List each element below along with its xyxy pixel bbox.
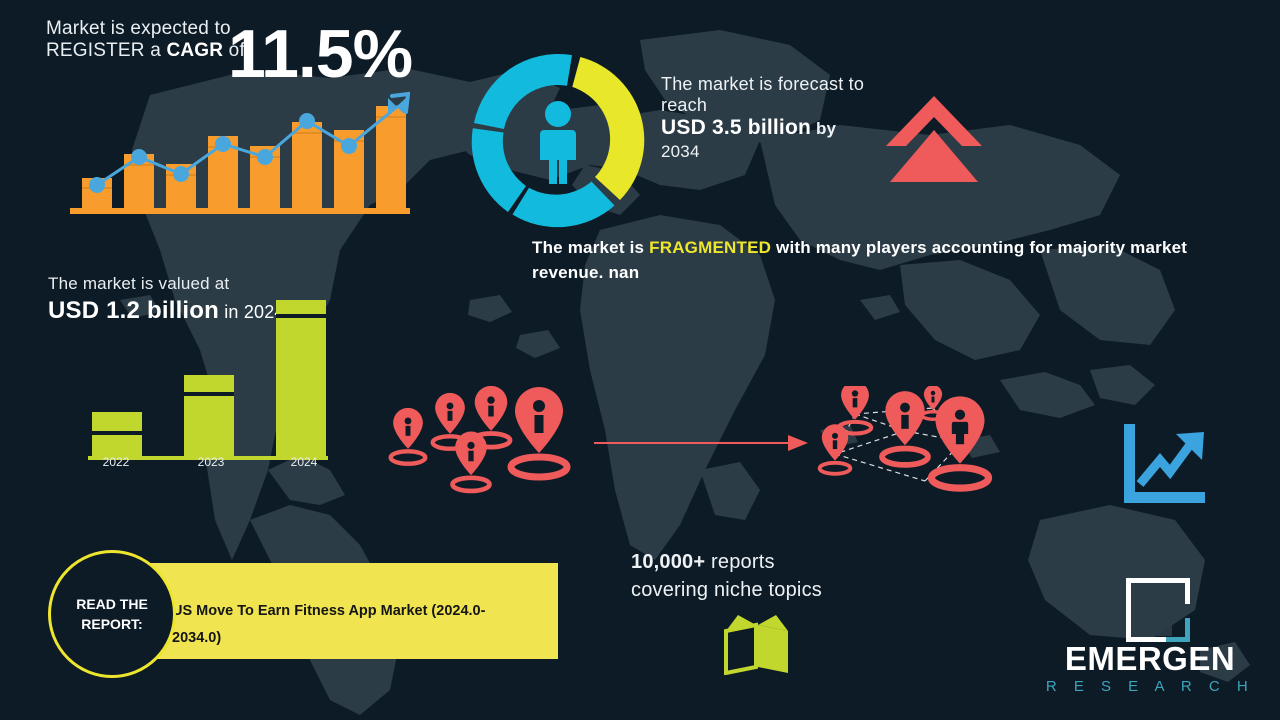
- valuation-label: The market is valued at: [48, 274, 229, 294]
- forecast-by: by: [811, 119, 836, 138]
- growth-chart-icon: [1118, 422, 1210, 508]
- location-pin-icon: [931, 396, 988, 488]
- donut-segment-a: [572, 57, 644, 200]
- location-pin-icon: [820, 424, 851, 474]
- green-bar-label-2022: 2022: [86, 455, 146, 469]
- scattered-location-pins: [383, 386, 593, 496]
- location-pin-icon: [839, 386, 871, 433]
- location-pin-icon: [391, 408, 426, 464]
- up-arrows-icon: [884, 94, 984, 184]
- chart-baseline: [70, 208, 410, 214]
- forecast-line1: The market is forecast to: [661, 74, 864, 94]
- person-icon: [540, 101, 576, 184]
- green-bar-label-2023: 2023: [181, 455, 241, 469]
- growth-bar-line-chart: [70, 88, 410, 218]
- location-pin-icon: [882, 391, 928, 465]
- reports-line1-rest: reports: [705, 551, 774, 573]
- reports-line2: covering niche topics: [631, 579, 822, 601]
- read-the-report-button[interactable]: READ THE REPORT:: [48, 550, 176, 678]
- infographic-canvas: Market is expected to REGISTER a CAGR of…: [0, 0, 1280, 720]
- bar-2023: [184, 375, 234, 456]
- report-title: US Move To Earn Fitness App Market (2024…: [172, 598, 512, 652]
- connected-location-pins: [805, 386, 1015, 501]
- forecast-year: 2034: [661, 142, 700, 161]
- read-the-report-label: READ THE REPORT:: [51, 594, 173, 635]
- forecast-text: The market is forecast to reach USD 3.5 …: [661, 74, 891, 162]
- transition-arrow-icon: [592, 428, 812, 458]
- fragmentation-pre: The market is: [532, 238, 649, 257]
- emergen-logo-mark: [1122, 574, 1194, 646]
- reports-count: 10,000+: [631, 551, 705, 573]
- location-pin-icon: [453, 432, 490, 491]
- market-value-bars: [78, 295, 338, 475]
- reports-count-text: 10,000+ reports covering niche topics: [631, 548, 911, 605]
- green-bar-label-2024: 2024: [274, 455, 334, 469]
- logo-name: EMERGEN: [1040, 640, 1260, 678]
- cagr-value: 11.5%: [228, 14, 412, 94]
- fragmentation-statement: The market is FRAGMENTED with many playe…: [532, 236, 1212, 285]
- cagr-label-line1: Market is expected to: [46, 18, 231, 39]
- donut-segment-c: [472, 128, 526, 212]
- location-pin-icon: [511, 387, 567, 477]
- fragmentation-highlight: FRAGMENTED: [649, 238, 771, 257]
- open-book-icon: [718, 613, 796, 675]
- logo-subtitle: R E S E A R C H: [1040, 678, 1260, 695]
- cagr-keyword: CAGR: [166, 40, 223, 61]
- market-share-donut: [463, 48, 653, 233]
- forecast-value: USD 3.5 billion: [661, 116, 811, 139]
- cagr-label-line2-pre: REGISTER a: [46, 40, 166, 61]
- forecast-line2: reach: [661, 95, 707, 115]
- donut-segment-d: [513, 182, 615, 228]
- bar-2024: [276, 300, 326, 456]
- chart-bars: [82, 106, 406, 208]
